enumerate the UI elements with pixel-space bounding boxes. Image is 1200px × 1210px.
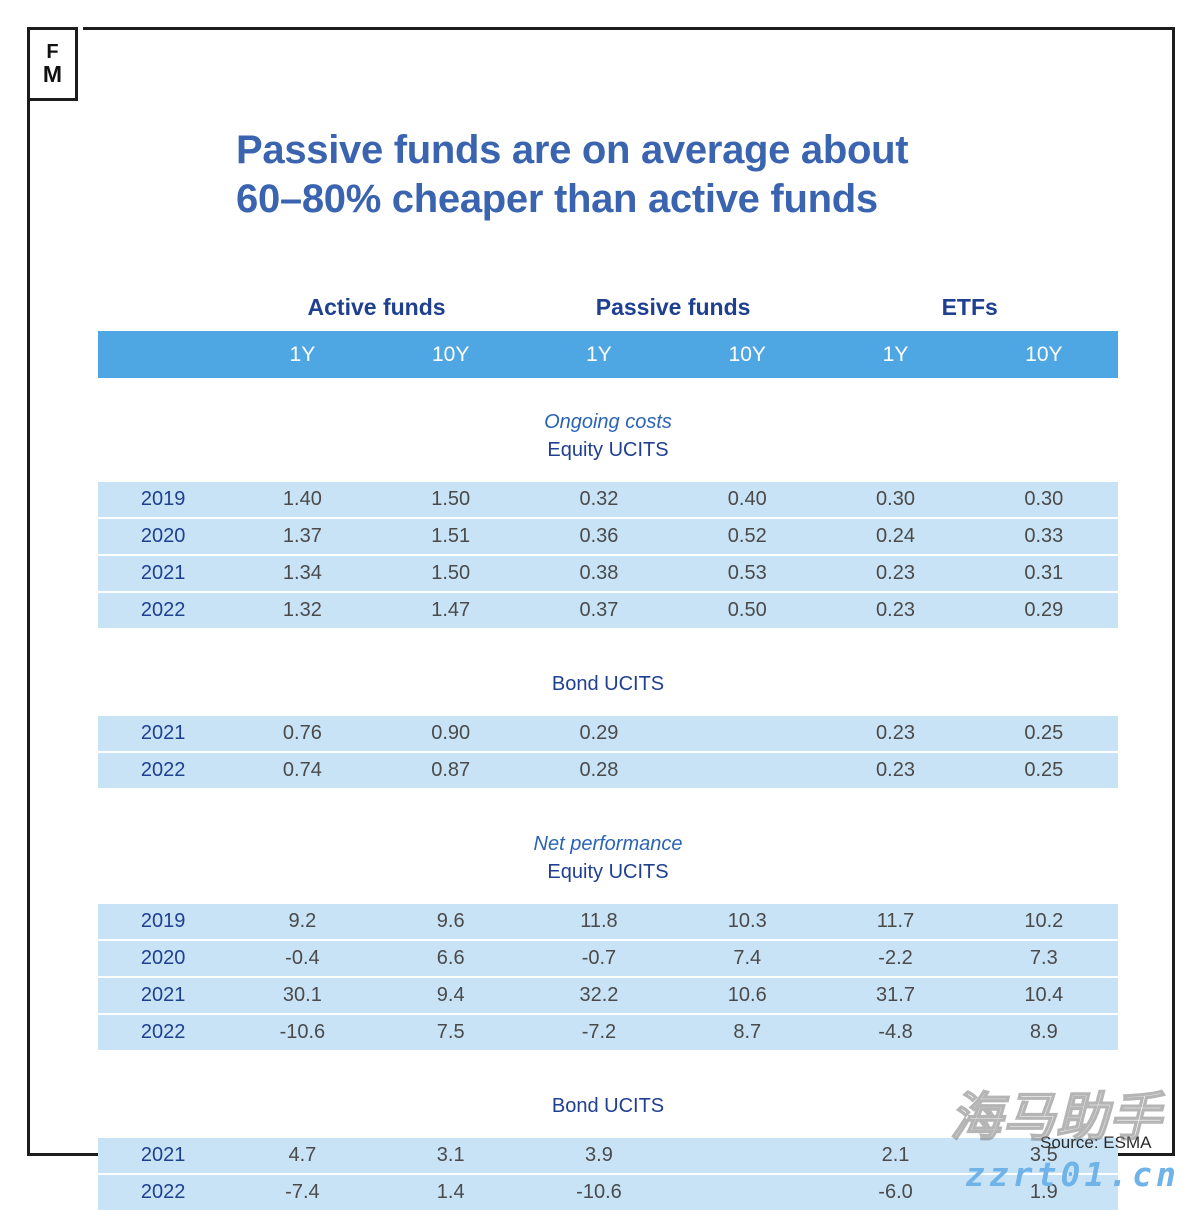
row-value-cell: 8.9: [970, 1014, 1118, 1050]
table-row: 20221.321.470.370.500.230.29: [98, 592, 1118, 628]
table-body: Active fundsPassive fundsETFs1Y10Y1Y10Y1…: [98, 281, 1118, 1210]
row-value-cell: 0.23: [821, 716, 969, 752]
row-value-cell: 1.4: [377, 1174, 525, 1210]
row-value-cell: 1.9: [970, 1174, 1118, 1210]
source-note: Source: ESMA: [1040, 1133, 1152, 1153]
row-value-cell: -0.7: [525, 940, 673, 977]
section-gap: [98, 788, 1118, 830]
row-value-cell: 3.9: [525, 1138, 673, 1174]
fm-logo: F M: [27, 27, 78, 101]
logo-letter-m: M: [43, 63, 62, 86]
table-row: 202130.19.432.210.631.710.4: [98, 977, 1118, 1014]
row-value-cell: -7.4: [228, 1174, 376, 1210]
spacer-cell: [98, 1050, 1118, 1092]
page-title-line-2: 60–80% cheaper than active funds: [236, 175, 1096, 224]
spacer-cell: [98, 886, 1118, 904]
row-value-cell: 0.23: [821, 555, 969, 592]
table-row: 2022-7.41.4-10.6-6.01.9: [98, 1174, 1118, 1210]
row-value-cell: 4.7: [228, 1138, 376, 1174]
row-value-cell: 11.8: [525, 904, 673, 940]
row-value-cell: 0.90: [377, 716, 525, 752]
row-value-cell: 0.23: [821, 752, 969, 788]
row-value-cell: 3.1: [377, 1138, 525, 1174]
row-value-cell: 0.28: [525, 752, 673, 788]
row-value-cell: 0.30: [821, 482, 969, 518]
period-header-cell: 1Y: [821, 331, 969, 378]
section-gap: [98, 1050, 1118, 1092]
page-title-line-1: Passive funds are on average about: [236, 126, 1096, 175]
table-row: 2022-10.67.5-7.28.7-4.88.9: [98, 1014, 1118, 1050]
row-year-cell: 2021: [98, 716, 228, 752]
group-header-blank: [98, 281, 228, 331]
spacer-cell: [98, 698, 1118, 716]
page-title: Passive funds are on average about 60–80…: [236, 126, 1096, 224]
spacer-cell: [98, 464, 1118, 482]
row-value-cell: 2.1: [821, 1138, 969, 1174]
table-row: 20220.740.870.280.230.25: [98, 752, 1118, 788]
row-value-cell: 32.2: [525, 977, 673, 1014]
row-value-cell: 8.7: [673, 1014, 821, 1050]
table-period-header-row: 1Y10Y1Y10Y1Y10Y: [98, 331, 1118, 378]
period-header-cell: 1Y: [525, 331, 673, 378]
row-value-cell: [673, 1138, 821, 1174]
row-value-cell: -10.6: [525, 1174, 673, 1210]
table-row: 20199.29.611.810.311.710.2: [98, 904, 1118, 940]
row-value-cell: 6.6: [377, 940, 525, 977]
row-value-cell: 11.7: [821, 904, 969, 940]
table-row: 20211.341.500.380.530.230.31: [98, 555, 1118, 592]
row-value-cell: 10.6: [673, 977, 821, 1014]
section-subtitle-gap: [98, 464, 1118, 482]
section-subtitle-gap: [98, 886, 1118, 904]
spacer-cell: [98, 788, 1118, 830]
fund-costs-table-container: Active fundsPassive fundsETFs1Y10Y1Y10Y1…: [98, 281, 1118, 1210]
row-year-cell: 2021: [98, 977, 228, 1014]
frame-border-right: [1172, 27, 1175, 1156]
section-metric-label: Net performance: [98, 830, 1118, 858]
row-value-cell: 0.33: [970, 518, 1118, 555]
row-year-cell: 2021: [98, 1138, 228, 1174]
section-subtitle-label: Bond UCITS: [98, 670, 1118, 698]
row-value-cell: 0.38: [525, 555, 673, 592]
table-group-header-row: Active fundsPassive fundsETFs: [98, 281, 1118, 331]
row-year-cell: 2022: [98, 1174, 228, 1210]
row-value-cell: 0.25: [970, 752, 1118, 788]
row-value-cell: -10.6: [228, 1014, 376, 1050]
group-header-etfs: ETFs: [821, 281, 1118, 331]
section-subtitle-gap: [98, 698, 1118, 716]
row-value-cell: 1.50: [377, 555, 525, 592]
row-value-cell: 1.50: [377, 482, 525, 518]
section-subtitle-gap: [98, 1120, 1118, 1138]
period-header-cell: 10Y: [970, 331, 1118, 378]
row-value-cell: 0.29: [970, 592, 1118, 628]
row-value-cell: 1.47: [377, 592, 525, 628]
frame-border-left: [27, 101, 30, 1156]
row-value-cell: 10.2: [970, 904, 1118, 940]
spacer-cell: [98, 1120, 1118, 1138]
row-value-cell: -4.8: [821, 1014, 969, 1050]
row-value-cell: 0.87: [377, 752, 525, 788]
row-value-cell: 10.3: [673, 904, 821, 940]
row-value-cell: 9.6: [377, 904, 525, 940]
row-value-cell: 7.4: [673, 940, 821, 977]
row-year-cell: 2019: [98, 482, 228, 518]
row-value-cell: 0.36: [525, 518, 673, 555]
row-year-cell: 2020: [98, 518, 228, 555]
row-value-cell: 9.4: [377, 977, 525, 1014]
row-value-cell: 9.2: [228, 904, 376, 940]
section-metric-row: Ongoing costs: [98, 408, 1118, 436]
row-value-cell: 0.23: [821, 592, 969, 628]
row-year-cell: 2022: [98, 1014, 228, 1050]
group-header-passive-funds: Passive funds: [525, 281, 822, 331]
section-subtitle-row: Equity UCITS: [98, 436, 1118, 464]
spacer-cell: [98, 378, 1118, 408]
row-value-cell: [673, 1174, 821, 1210]
section-subtitle-row: Bond UCITS: [98, 1092, 1118, 1120]
row-value-cell: 0.74: [228, 752, 376, 788]
row-value-cell: 0.40: [673, 482, 821, 518]
period-header-cell: 10Y: [377, 331, 525, 378]
row-value-cell: 30.1: [228, 977, 376, 1014]
row-value-cell: 7.3: [970, 940, 1118, 977]
table-row: 20201.371.510.360.520.240.33: [98, 518, 1118, 555]
row-value-cell: 0.53: [673, 555, 821, 592]
row-value-cell: 1.34: [228, 555, 376, 592]
fund-costs-table: Active fundsPassive fundsETFs1Y10Y1Y10Y1…: [98, 281, 1118, 1210]
row-value-cell: 0.52: [673, 518, 821, 555]
section-metric-row: Net performance: [98, 830, 1118, 858]
period-header-cell: 1Y: [228, 331, 376, 378]
row-value-cell: [673, 752, 821, 788]
section-subtitle-row: Equity UCITS: [98, 858, 1118, 886]
row-value-cell: -7.2: [525, 1014, 673, 1050]
row-value-cell: [673, 716, 821, 752]
row-value-cell: 0.25: [970, 716, 1118, 752]
row-value-cell: 0.50: [673, 592, 821, 628]
row-value-cell: 0.29: [525, 716, 673, 752]
row-value-cell: 0.32: [525, 482, 673, 518]
row-value-cell: 0.76: [228, 716, 376, 752]
row-value-cell: -2.2: [821, 940, 969, 977]
row-year-cell: 2022: [98, 752, 228, 788]
group-header-active-funds: Active funds: [228, 281, 525, 331]
row-value-cell: 0.30: [970, 482, 1118, 518]
row-value-cell: 0.24: [821, 518, 969, 555]
row-value-cell: 10.4: [970, 977, 1118, 1014]
frame-border-top: [83, 27, 1175, 30]
period-header-cell: 10Y: [673, 331, 821, 378]
row-value-cell: -0.4: [228, 940, 376, 977]
table-row: 20214.73.13.92.13.5: [98, 1138, 1118, 1174]
section-subtitle-label: Bond UCITS: [98, 1092, 1118, 1120]
row-value-cell: -6.0: [821, 1174, 969, 1210]
table-row: 20191.401.500.320.400.300.30: [98, 482, 1118, 518]
section-metric-label: Ongoing costs: [98, 408, 1118, 436]
row-value-cell: 1.32: [228, 592, 376, 628]
row-value-cell: 0.37: [525, 592, 673, 628]
section-gap: [98, 378, 1118, 408]
spacer-cell: [98, 628, 1118, 670]
table-row: 20210.760.900.290.230.25: [98, 716, 1118, 752]
table-row: 2020-0.46.6-0.77.4-2.27.3: [98, 940, 1118, 977]
row-value-cell: 1.51: [377, 518, 525, 555]
row-year-cell: 2019: [98, 904, 228, 940]
section-subtitle-label: Equity UCITS: [98, 436, 1118, 464]
section-subtitle-label: Equity UCITS: [98, 858, 1118, 886]
row-year-cell: 2022: [98, 592, 228, 628]
row-year-cell: 2021: [98, 555, 228, 592]
row-value-cell: 1.40: [228, 482, 376, 518]
section-gap: [98, 628, 1118, 670]
row-year-cell: 2020: [98, 940, 228, 977]
period-header-year-col: [98, 331, 228, 378]
row-value-cell: 31.7: [821, 977, 969, 1014]
logo-letter-f: F: [46, 42, 58, 62]
section-subtitle-row: Bond UCITS: [98, 670, 1118, 698]
row-value-cell: 1.37: [228, 518, 376, 555]
row-value-cell: 0.31: [970, 555, 1118, 592]
row-value-cell: 7.5: [377, 1014, 525, 1050]
